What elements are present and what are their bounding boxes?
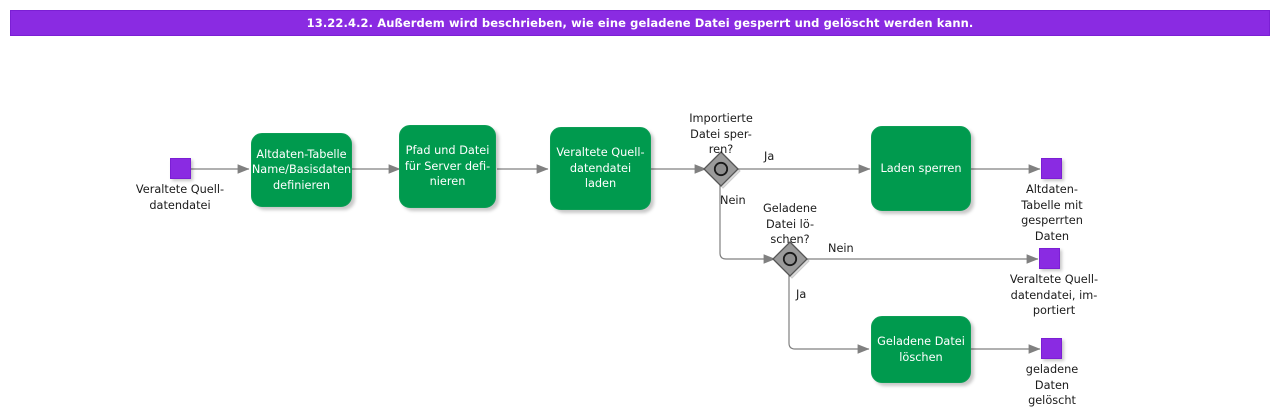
- activity-label: Geladene Datei löschen: [875, 334, 967, 365]
- gateway-event-circle-icon: [784, 253, 796, 265]
- end-marker-label: geladene Daten gelöscht: [993, 362, 1111, 409]
- edge-label-ja-sperren: Ja: [764, 149, 774, 164]
- end-marker-altdaten-tabelle-gesperrt[interactable]: [1041, 158, 1062, 179]
- end-marker-label: Altdaten- Tabelle mit gesperrten Daten: [993, 182, 1111, 244]
- activity-quelldatendatei-laden[interactable]: Veraltete Quell- datendatei laden: [550, 127, 651, 210]
- flowchart-diagram: Laden sperren --> Gateway 2 (elbow) --> …: [0, 0, 1280, 415]
- gateway-label-importierte-datei-sperren: Importierte Datei sper- ren?: [661, 111, 781, 158]
- activity-label: Laden sperren: [878, 161, 963, 177]
- activity-label: Altdaten-Tabelle Name/Basisdaten definie…: [250, 147, 353, 194]
- start-marker-label: Veraltete Quell- datendatei: [110, 182, 250, 213]
- end-marker-geladene-daten-geloescht[interactable]: [1041, 338, 1062, 359]
- end-marker-label: Veraltete Quell- datendatei, im- portier…: [995, 272, 1113, 319]
- activity-label: Veraltete Quell- datendatei laden: [551, 145, 650, 192]
- activity-label: Pfad und Datei für Server defi- nieren: [403, 143, 492, 190]
- edge-label-nein-loeschen: Nein: [828, 241, 854, 256]
- activity-laden-sperren[interactable]: Laden sperren: [871, 126, 971, 211]
- end-marker-quelldatendatei-importiert[interactable]: [1039, 248, 1060, 269]
- edge-label-ja-loeschen: Ja: [796, 287, 806, 302]
- edge-label-nein-sperren: Nein: [720, 193, 746, 208]
- activity-geladene-datei-loeschen[interactable]: Geladene Datei löschen: [871, 316, 971, 383]
- activity-pfad-und-datei[interactable]: Pfad und Datei für Server defi- nieren: [399, 125, 496, 208]
- connector-gateway2-ja-to-loeschen: [789, 273, 869, 349]
- start-marker-veraltete-quelldatendatei[interactable]: [170, 158, 191, 179]
- gateway-event-circle-icon: [715, 163, 727, 175]
- activity-altdaten-tabelle[interactable]: Altdaten-Tabelle Name/Basisdaten definie…: [251, 133, 352, 207]
